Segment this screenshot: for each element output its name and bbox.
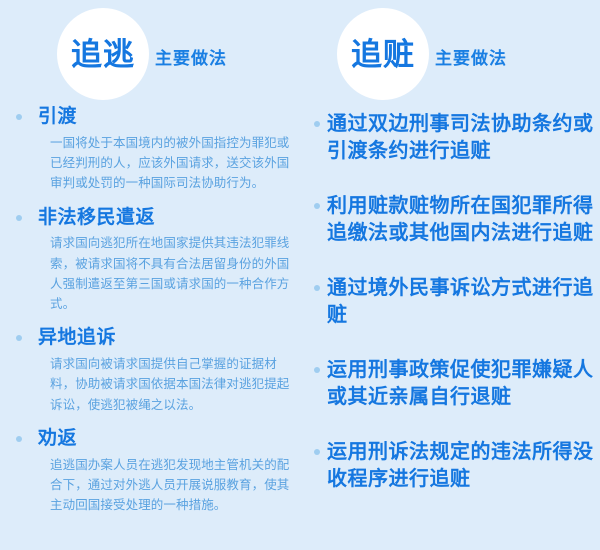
bullet-dot-icon	[16, 215, 22, 221]
list-item-title: 劝返	[38, 427, 300, 451]
right-badge-label: 追赃	[351, 39, 415, 70]
right-badge-circle: 追赃	[337, 8, 429, 100]
left-badge-label: 追逃	[71, 39, 135, 70]
left-badge-circle: 追逃	[57, 8, 149, 100]
list-item-title: 通过双边刑事司法协助条约或引渡条约进行追赃	[327, 111, 600, 165]
list-item: 非法移民遣返 请求国向逃犯所在地国家提供其违法犯罪线索，被请求国将不具有合法居留…	[0, 206, 300, 315]
bullet-dot-icon	[314, 367, 320, 373]
right-item-list: 通过双边刑事司法协助条约或引渡条约进行追赃 利用赃款赃物所在国犯罪所得追缴法或其…	[300, 105, 600, 493]
list-item-title: 非法移民遣返	[38, 206, 300, 230]
list-item-title: 利用赃款赃物所在国犯罪所得追缴法或其他国内法进行追赃	[327, 193, 600, 247]
bullet-dot-icon	[314, 203, 320, 209]
list-item-title: 运用刑诉法规定的违法所得没收程序进行追赃	[327, 439, 600, 493]
list-item: 运用刑事政策促使犯罪嫌疑人或其近亲属自行退赃	[300, 357, 600, 411]
list-item: 劝返 追逃国办案人员在逃犯发现地主管机关的配合下，通过对外逃人员开展说服教育，使…	[0, 427, 300, 516]
list-item: 运用刑诉法规定的违法所得没收程序进行追赃	[300, 439, 600, 493]
right-column-header: 追赃 主要做法	[300, 0, 600, 105]
column-asset-recovery: 追赃 主要做法 通过双边刑事司法协助条约或引渡条约进行追赃 利用赃款赃物所在国犯…	[300, 0, 600, 550]
list-item-title: 引渡	[38, 105, 300, 129]
two-column-layout: 追逃 主要做法 引渡 一国将处于本国境内的被外国指控为罪犯或已经判刑的人，应该外…	[0, 0, 600, 550]
list-item-title: 异地追诉	[38, 326, 300, 350]
bullet-dot-icon	[16, 436, 22, 442]
bullet-dot-icon	[314, 449, 320, 455]
list-item: 通过双边刑事司法协助条约或引渡条约进行追赃	[300, 111, 600, 165]
right-header-subtitle: 主要做法	[435, 44, 507, 69]
list-item-description: 追逃国办案人员在逃犯发现地主管机关的配合下，通过对外逃人员开展说服教育，使其主动…	[38, 455, 300, 516]
bullet-dot-icon	[16, 335, 22, 341]
list-item-title: 通过境外民事诉讼方式进行追赃	[327, 275, 600, 329]
bullet-dot-icon	[314, 285, 320, 291]
list-item-title: 运用刑事政策促使犯罪嫌疑人或其近亲属自行退赃	[327, 357, 600, 411]
left-column-header: 追逃 主要做法	[0, 0, 300, 105]
list-item: 通过境外民事诉讼方式进行追赃	[300, 275, 600, 329]
list-item: 异地追诉 请求国向被请求国提供自己掌握的证据材料，协助被请求国依据本国法律对逃犯…	[0, 326, 300, 415]
bullet-dot-icon	[314, 121, 320, 127]
list-item: 引渡 一国将处于本国境内的被外国指控为罪犯或已经判刑的人，应该外国请求，送交该外…	[0, 105, 300, 194]
list-item-description: 一国将处于本国境内的被外国指控为罪犯或已经判刑的人，应该外国请求，送交该外国审判…	[38, 133, 300, 194]
infographic-board: 追逃 主要做法 引渡 一国将处于本国境内的被外国指控为罪犯或已经判刑的人，应该外…	[0, 0, 600, 550]
left-header-subtitle: 主要做法	[155, 44, 227, 69]
column-escapee-pursuit: 追逃 主要做法 引渡 一国将处于本国境内的被外国指控为罪犯或已经判刑的人，应该外…	[0, 0, 300, 550]
left-item-list: 引渡 一国将处于本国境内的被外国指控为罪犯或已经判刑的人，应该外国请求，送交该外…	[0, 105, 300, 515]
list-item: 利用赃款赃物所在国犯罪所得追缴法或其他国内法进行追赃	[300, 193, 600, 247]
list-item-description: 请求国向逃犯所在地国家提供其违法犯罪线索，被请求国将不具有合法居留身份的外国人强…	[38, 233, 300, 314]
bullet-dot-icon	[16, 114, 22, 120]
list-item-description: 请求国向被请求国提供自己掌握的证据材料，协助被请求国依据本国法律对逃犯提起诉讼，…	[38, 354, 300, 415]
